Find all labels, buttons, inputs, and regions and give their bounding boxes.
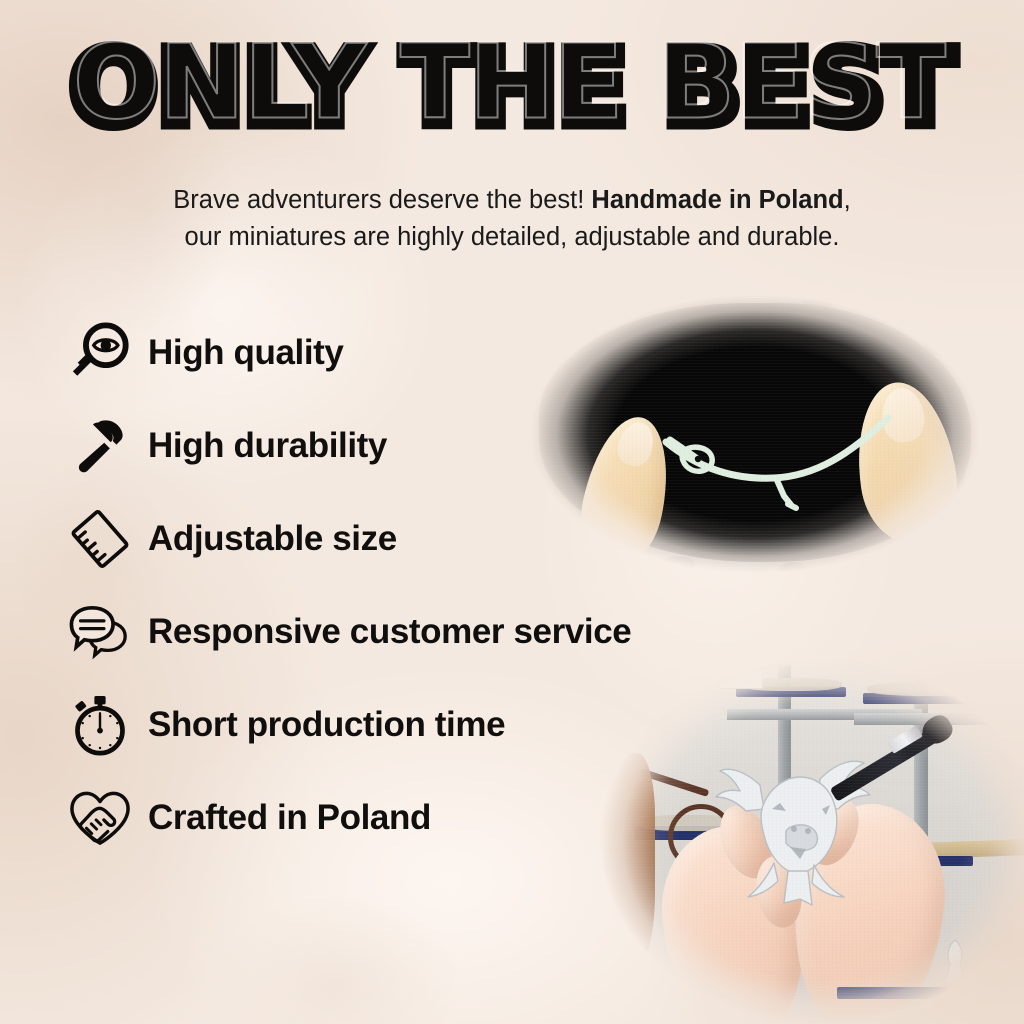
subtitle-line1-suffix: , xyxy=(844,186,851,214)
hammer-icon xyxy=(62,408,138,484)
miniature-flex-part xyxy=(520,282,990,586)
stopwatch-icon xyxy=(62,687,138,763)
heart-handshake-icon xyxy=(62,780,138,856)
magnifier-eye-icon xyxy=(62,315,138,391)
feature-label: Adjustable size xyxy=(148,519,397,559)
photo-flexible-miniature xyxy=(520,282,990,586)
feature-label: Responsive customer service xyxy=(148,612,631,652)
speech-bubbles-icon xyxy=(62,594,138,670)
promo-poster: ONLY THE BEST ONLY THE BEST Brave advent… xyxy=(0,0,1024,1024)
subtitle-line1-bold: Handmade in Poland xyxy=(591,186,843,214)
feature-label: Short production time xyxy=(148,705,505,745)
subtitle: Brave adventurers deserve the best! Hand… xyxy=(72,182,952,256)
feature-label: High durability xyxy=(148,426,387,466)
parts-tray xyxy=(837,987,947,999)
shelf-label-card xyxy=(719,667,763,689)
subtitle-line2: our miniatures are highly detailed, adju… xyxy=(185,223,840,251)
photo-painting-workshop xyxy=(600,658,1024,1024)
torn-edge-warm-area xyxy=(600,753,655,973)
ruler-icon xyxy=(62,501,138,577)
feature-label: Crafted in Poland xyxy=(148,798,431,838)
subtitle-line1-prefix: Brave adventurers deserve the best! xyxy=(173,186,591,214)
page-title: ONLY THE BEST xyxy=(0,34,1024,143)
feature-label: High quality xyxy=(148,333,343,373)
sprue-parts xyxy=(867,682,1003,696)
